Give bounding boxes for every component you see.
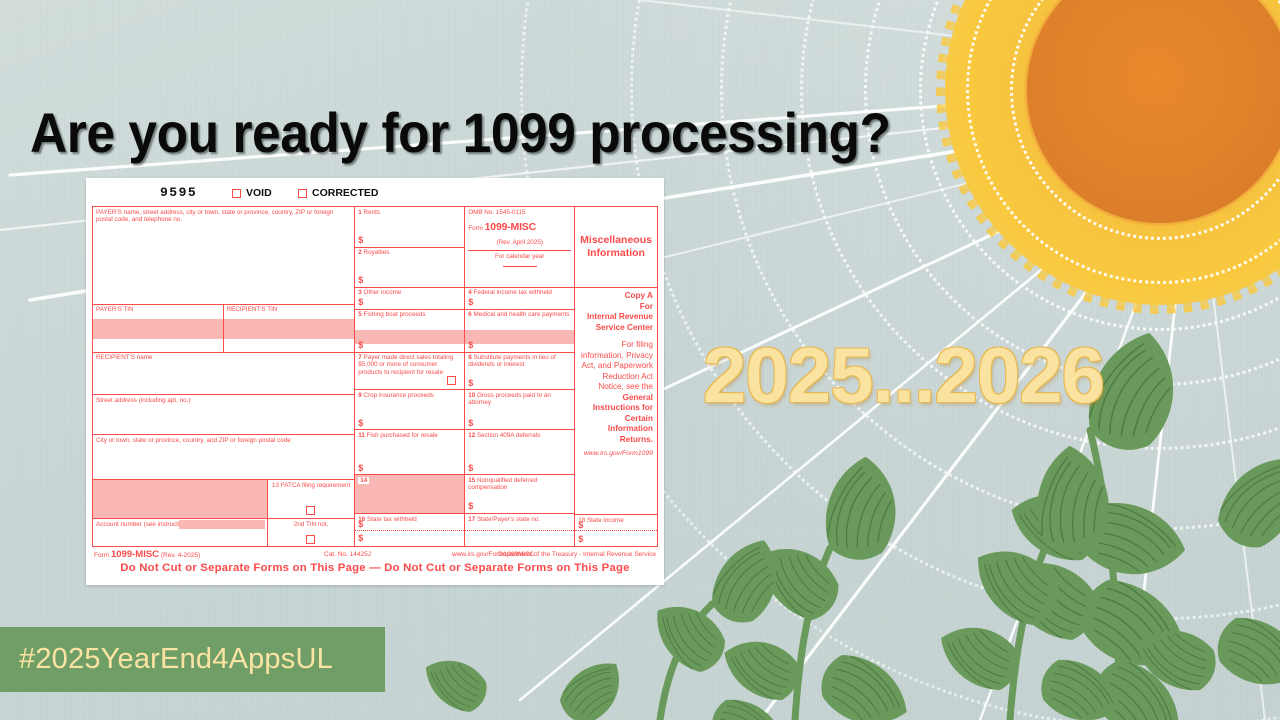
account-row: Account number (see instructions) 2nd TI… [93, 519, 354, 546]
corrected-checkbox-group[interactable]: CORRECTED [298, 187, 379, 199]
copy-irs-line-2: Service Center [579, 323, 653, 334]
copy-for-label: For [579, 302, 653, 313]
box-2-royalties[interactable]: 2 Royalties $ [355, 248, 464, 288]
fatca-checkbox[interactable] [306, 506, 315, 515]
box-9-label: Crop insurance proceeds [364, 392, 434, 399]
box-6-dollar-sign: $ [468, 340, 473, 351]
box-14-number: 14 [358, 477, 369, 484]
box-6-pink-fill [465, 330, 574, 344]
void-checkbox[interactable] [232, 189, 241, 198]
box-1-number: 1 [358, 209, 362, 216]
account-number-pink-fill [179, 520, 265, 529]
box-8-label: Substitute payments in lieu of dividends… [468, 354, 556, 368]
form-header-strip: 9595 VOID CORRECTED [86, 178, 664, 206]
recipient-name-field[interactable]: RECIPIENT'S name [93, 353, 354, 396]
form-name: 1099-MISC [485, 221, 536, 233]
corrected-checkbox[interactable] [298, 189, 307, 198]
form-designation: Form 1099-MISC [468, 221, 571, 233]
hashtag-text: #2025YearEnd4AppsUL [0, 643, 333, 676]
payer-tin-pink-fill [93, 319, 223, 339]
footer-cat-no: Cat. No. 14425J [324, 551, 371, 559]
box-3-other-income[interactable]: 3 Other income $ [355, 288, 464, 310]
copy-irs-url[interactable]: www.irs.gov/Form1099 [579, 450, 653, 459]
box-17-number: 17 [468, 516, 475, 523]
copy-irs-line-1: Internal Revenue [579, 312, 653, 323]
box-18-state-income[interactable]: 18 State income $ $ [575, 514, 657, 546]
box-6-number: 6 [468, 311, 472, 318]
box-12-label: Section 409A deferrals [477, 432, 540, 439]
footer-form-revision: (Rev. 4-2025) [161, 552, 200, 559]
void-checkbox-group[interactable]: VOID [232, 187, 272, 199]
box-9-number: 9 [358, 392, 362, 399]
recipient-tin-field[interactable]: RECIPIENT'S TIN [224, 305, 355, 352]
slide-canvas: Are you ready for 1099 processing? 2025.… [0, 0, 1280, 720]
box-10-number: 10 [468, 392, 475, 399]
copy-general-instructions: General Instructions for Certain Informa… [579, 393, 653, 446]
form-1099-misc-image: 9595 VOID CORRECTED PAYER'S name, street… [86, 178, 664, 585]
box-15-label: Nonqualified deferred compensation [468, 477, 537, 491]
second-tin-field[interactable]: 2nd TIN not. [268, 519, 354, 546]
form-scan-number: 9595 [160, 185, 197, 200]
box-12-number: 12 [468, 432, 475, 439]
void-label: VOID [246, 187, 272, 199]
recipient-name-label: RECIPIENT'S name [96, 354, 153, 361]
document-title-block: Miscellaneous Information [575, 207, 657, 288]
box-12-dollar-sign: $ [468, 463, 473, 474]
tin-row: PAYER'S TIN RECIPIENT'S TIN [93, 305, 354, 353]
box-12-409a-deferrals[interactable]: 12 Section 409A deferrals $ [465, 430, 574, 475]
form-revision: (Rev. April 2025) [468, 239, 571, 246]
box-7-number: 7 [358, 354, 362, 361]
street-address-label: Street address (including apt. no.) [96, 397, 191, 404]
form-grid: PAYER'S name, street address, city or to… [92, 206, 658, 546]
box-3-label: Other income [364, 289, 402, 296]
box-8-number: 8 [468, 354, 472, 361]
account-number-field[interactable]: Account number (see instructions) [93, 519, 268, 546]
fatca-blank-pink-area [93, 480, 268, 518]
box-16-state-tax[interactable]: 16 State tax withheld $ $ [355, 514, 464, 546]
form-footer-line-1: Form 1099-MISC (Rev. 4-2025) Cat. No. 14… [92, 549, 658, 560]
box-17-dotted-divider [465, 530, 574, 531]
box-15-dollar-sign: $ [468, 501, 473, 512]
box-4-label: Federal income tax withheld [473, 289, 551, 296]
city-state-zip-label: City or town, state or province, country… [96, 437, 291, 444]
form-copy-column: Miscellaneous Information Copy A For Int… [575, 207, 657, 546]
omb-number: OMB No. 1545-0115 [468, 209, 571, 216]
box-4-number: 4 [468, 289, 472, 296]
doc-title-line-1: Miscellaneous [580, 234, 652, 246]
footer-form-designation: Form 1099-MISC (Rev. 4-2025) [94, 549, 200, 560]
calendar-year-blank[interactable] [503, 266, 537, 267]
box-11-fish-purchased[interactable]: 11 Fish purchased for resale $ [355, 430, 464, 475]
account-number-label: Account number (see instructions) [96, 521, 192, 528]
box-13-fatca-field[interactable]: 13 FATCA filing requirement [268, 480, 354, 518]
box-5-fishing-boat[interactable]: 5 Fishing boat proceeds $ [355, 310, 464, 353]
box-13-label: FATCA filing requirement [281, 482, 351, 489]
box-4-dollar-sign: $ [468, 297, 473, 308]
box-5-label: Fishing boat proceeds [364, 311, 426, 318]
city-state-zip-field[interactable]: City or town, state or province, country… [93, 435, 354, 480]
form-mid-column: 1 Rents $ 2 Royalties $ 3 Other income $… [355, 207, 465, 546]
box-17-label: State/Payer's state no. [477, 516, 540, 523]
year-range-text: 2025...2026 [703, 330, 1104, 421]
box-16-dollar-sign-1: $ [358, 519, 363, 530]
form-right-column: OMB No. 1545-0115 Form 1099-MISC (Rev. A… [465, 207, 575, 546]
corrected-label: CORRECTED [312, 187, 379, 199]
box-5-pink-fill [355, 330, 464, 344]
box-2-label: Royalties [364, 249, 390, 256]
box-14-field[interactable]: 14 [355, 475, 464, 514]
slide-title: Are you ready for 1099 processing? [30, 100, 891, 165]
box-3-dollar-sign: $ [358, 297, 363, 308]
box-9-dollar-sign: $ [358, 418, 363, 429]
box-13-number: 13 [272, 482, 279, 489]
box-9-crop-insurance[interactable]: 9 Crop insurance proceeds $ [355, 390, 464, 430]
box-11-dollar-sign: $ [358, 463, 363, 474]
box-6-medical-payments[interactable]: 6 Medical and health care payments $ [465, 310, 574, 353]
box-15-nonqualified-deferred[interactable]: 15 Nonqualified deferred compensation $ [465, 475, 574, 514]
box-2-number: 2 [358, 249, 362, 256]
box-6-label: Medical and health care payments [473, 311, 569, 318]
box-11-label: Fish purchased for resale [367, 432, 438, 439]
doc-title-line-2: Information [587, 247, 645, 259]
recipient-tin-pink-fill [224, 319, 355, 339]
form-left-column: PAYER'S name, street address, city or to… [93, 207, 355, 546]
box-7-direct-sales[interactable]: 7 Payer made direct sales totaling $5,00… [355, 353, 464, 391]
box-10-attorney-proceeds[interactable]: 10 Gross proceeds paid to an attorney $ [465, 390, 574, 430]
box-5-dollar-sign: $ [358, 340, 363, 351]
second-tin-label: 2nd TIN not. [294, 521, 329, 528]
box-15-number: 15 [468, 477, 475, 484]
box-18-dotted-divider [575, 530, 657, 531]
form-footer: Form 1099-MISC (Rev. 4-2025) Cat. No. 14… [92, 546, 658, 580]
box-16-dollar-sign-2: $ [358, 533, 363, 544]
box-16-dotted-divider [355, 530, 464, 531]
footer-form-name: 1099-MISC [111, 549, 159, 560]
payer-name-field[interactable]: PAYER'S name, street address, city or to… [93, 207, 354, 305]
omb-block: OMB No. 1545-0115 Form 1099-MISC (Rev. A… [465, 207, 574, 288]
street-address-field[interactable]: Street address (including apt. no.) [93, 395, 354, 435]
box-1-label: Rents [364, 209, 380, 216]
copy-a-label: Copy A [579, 291, 653, 302]
box-5-number: 5 [358, 311, 362, 318]
box-3-number: 3 [358, 289, 362, 296]
form-word: Form [468, 225, 483, 232]
copy-privacy-paragraph: For filing information, Privacy Act, and… [579, 340, 653, 393]
footer-form-word: Form [94, 552, 109, 559]
payer-tin-field[interactable]: PAYER'S TIN [93, 305, 224, 352]
box-10-label: Gross proceeds paid to an attorney [468, 392, 551, 406]
box-8-dollar-sign: $ [468, 378, 473, 389]
box-16-label: State tax withheld [367, 516, 417, 523]
box-2-dollar-sign: $ [358, 275, 363, 286]
box-10-dollar-sign: $ [468, 418, 473, 429]
copy-a-instructions: Copy A For Internal Revenue Service Cent… [575, 288, 657, 514]
hashtag-band: #2025YearEnd4AppsUL [0, 627, 385, 692]
calendar-year-label: For calendar year [468, 250, 571, 260]
footer-treasury: Department of the Treasury - Internal Re… [498, 551, 656, 559]
fatca-row: 13 FATCA filing requirement [93, 480, 354, 519]
box-18-dollar-sign-2: $ [578, 534, 583, 545]
recipient-tin-label: RECIPIENT'S TIN [227, 306, 278, 313]
box-1-rents[interactable]: 1 Rents $ [355, 207, 464, 248]
payer-name-label: PAYER'S name, street address, city or to… [96, 209, 333, 223]
box-8-substitute-payments[interactable]: 8 Substitute payments in lieu of dividen… [465, 353, 574, 391]
payer-tin-label: PAYER'S TIN [96, 306, 134, 313]
box-11-number: 11 [358, 432, 365, 439]
box-7-checkbox[interactable] [447, 376, 456, 385]
box-17-state-payer-no[interactable]: 17 State/Payer's state no. [465, 514, 574, 546]
box-18-label: State income [587, 517, 624, 524]
second-tin-checkbox[interactable] [306, 535, 315, 544]
box-4-federal-tax[interactable]: 4 Federal income tax withheld $ [465, 288, 574, 310]
box-7-label: Payer made direct sales totaling $5,000 … [358, 354, 453, 376]
box-1-dollar-sign: $ [358, 235, 363, 246]
do-not-cut-notice: Do Not Cut or Separate Forms on This Pag… [92, 562, 658, 575]
